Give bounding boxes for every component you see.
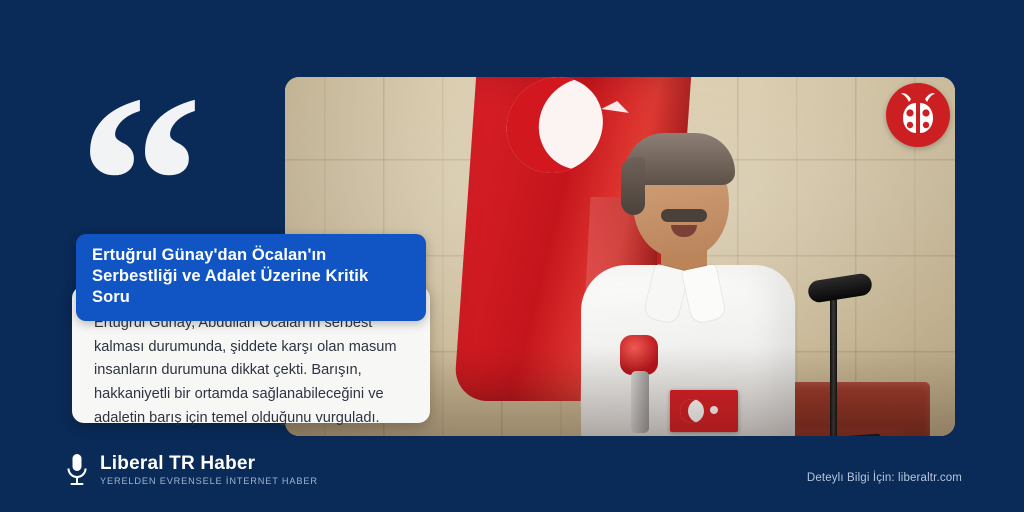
brand-text-block: Liberal TR Haber YERELDEN EVRENSELE İNTE… bbox=[100, 454, 318, 487]
ladybug-logo-badge bbox=[886, 83, 950, 147]
speaker-sideburn bbox=[621, 157, 645, 215]
flag-star bbox=[601, 99, 631, 113]
headline-banner: Ertuğrul Günay'dan Öcalan'ın Serbestliği… bbox=[76, 234, 426, 321]
summary-text: Ertuğrul Günay, Abdullah Öcalan'ın serbe… bbox=[94, 312, 408, 430]
brand-tagline: YERELDEN EVRENSELE İNTERNET HABER bbox=[100, 476, 318, 486]
headline-line-2: Serbestliği ve Adalet Üzerine Kritik Sor… bbox=[92, 266, 410, 308]
poster-canvas: “ Ertuğrul Günay, Abdullah Öcalan'ın ser… bbox=[0, 0, 1024, 512]
brand-name: Liberal TR Haber bbox=[100, 454, 318, 475]
brand-logo: Liberal TR Haber YERELDEN EVRENSELE İNTE… bbox=[64, 452, 318, 488]
speaker-mustache bbox=[661, 209, 707, 222]
microphone-icon bbox=[64, 452, 90, 488]
more-info-text: Deteylı Bilgi İçin: liberaltr.com bbox=[807, 472, 962, 484]
headline-line-1: Ertuğrul Günay'dan Öcalan'ın bbox=[92, 245, 410, 266]
